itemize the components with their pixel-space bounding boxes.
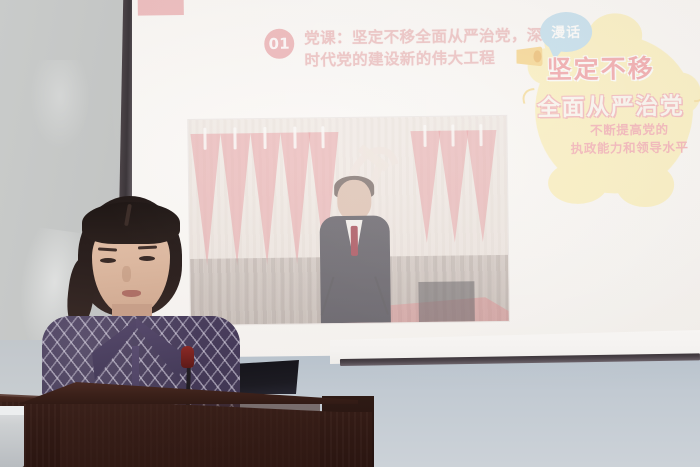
photo-flag-pole	[451, 125, 454, 147]
photo-red-flag	[410, 131, 441, 243]
photo-flag-pole	[321, 126, 324, 148]
logo-c-letter: C	[139, 0, 177, 6]
photo-red-flag	[250, 133, 282, 265]
speaker-eye-left	[100, 258, 116, 263]
screenshot-root: C 目录 ontents 01 党课：坚定不移全面从严治党，深入推进新 时代党的…	[0, 0, 700, 467]
speaker-nose	[122, 266, 131, 282]
megaphone-icon	[516, 46, 542, 66]
sticker-headline-line-1: 坚定不移	[546, 48, 696, 86]
sticker-headline-line-2: 全面从严治党	[537, 86, 700, 122]
equipment-case-lid	[0, 406, 24, 415]
speaker-mouth	[122, 290, 141, 297]
photo-speaker-head	[337, 180, 372, 220]
photo-flag-pole	[293, 127, 296, 149]
photo-podium	[418, 281, 475, 322]
speaker-eye-right	[139, 256, 155, 261]
photo-flag-pole	[423, 125, 426, 147]
sticker-blob-lobe	[548, 162, 609, 205]
section-number-badge: 01	[264, 29, 294, 59]
sticker-subtext-line-2: 执政能力和领导水平	[560, 138, 700, 158]
photo-flag-pole	[233, 127, 236, 149]
microphone-icon	[181, 346, 194, 368]
photo-red-flag	[466, 130, 497, 242]
sticker-subtext: 不断提高党的 执政能力和领导水平	[559, 120, 699, 158]
podium-front-face	[60, 404, 320, 467]
photo-flag-pole	[263, 127, 266, 149]
photo-speaker-tie	[351, 226, 358, 256]
wall-light-reflection-secondary	[30, 60, 90, 150]
equipment-case	[0, 406, 24, 467]
sticker-blob-lobe	[616, 163, 675, 208]
photo-red-flag	[438, 130, 469, 242]
logo-english-label: ontents	[186, 0, 255, 1]
photo-speaker-figure	[317, 179, 393, 323]
sticker-subtext-line-1: 不断提高党的	[559, 120, 699, 140]
contents-logo: C 目录 ontents	[137, 0, 268, 22]
speech-bubble-label: 漫话	[551, 22, 581, 42]
photo-red-flag	[280, 132, 312, 264]
photo-flag-pole	[203, 128, 206, 150]
slide-sticker-graphic: 漫话 坚定不移 全面从严治党 不断提高党的 执政能力和领导水平	[522, 8, 700, 210]
photo-flag-pole	[479, 124, 482, 146]
